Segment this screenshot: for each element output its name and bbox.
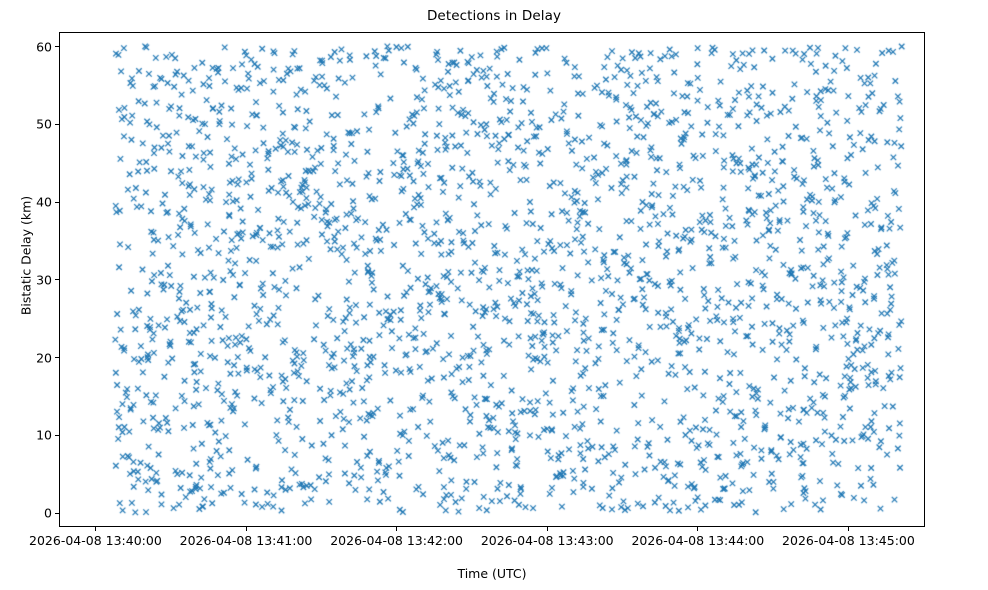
plot-axes-area bbox=[59, 32, 925, 527]
x-tick-mark bbox=[246, 527, 247, 531]
x-tick-label: 2026-04-08 13:42:00 bbox=[330, 533, 463, 548]
y-tick-label: 20 bbox=[12, 350, 52, 365]
y-tick-label: 40 bbox=[12, 195, 52, 210]
scatter-plot-canvas bbox=[60, 33, 925, 527]
y-tick-label: 10 bbox=[12, 428, 52, 443]
y-tick-label: 30 bbox=[12, 272, 52, 287]
x-tick-label: 2026-04-08 13:40:00 bbox=[29, 533, 162, 548]
x-tick-label: 2026-04-08 13:44:00 bbox=[631, 533, 764, 548]
x-tick-mark bbox=[547, 527, 548, 531]
matplotlib-figure: Detections in Delay Bistatic Delay (km) … bbox=[0, 0, 988, 590]
page-title: Detections in Delay bbox=[0, 8, 988, 24]
x-axis-label: Time (UTC) bbox=[59, 566, 925, 581]
y-tick-label: 0 bbox=[12, 506, 52, 521]
x-tick-label: 2026-04-08 13:45:00 bbox=[782, 533, 915, 548]
y-tick-label: 60 bbox=[12, 39, 52, 54]
x-tick-mark bbox=[95, 527, 96, 531]
x-tick-mark bbox=[396, 527, 397, 531]
x-tick-label: 2026-04-08 13:43:00 bbox=[481, 533, 614, 548]
x-tick-mark bbox=[697, 527, 698, 531]
y-tick-label: 50 bbox=[12, 117, 52, 132]
y-tick-label-group: 0102030405060 bbox=[8, 0, 52, 590]
x-tick-mark bbox=[848, 527, 849, 531]
x-tick-label: 2026-04-08 13:41:00 bbox=[180, 533, 313, 548]
